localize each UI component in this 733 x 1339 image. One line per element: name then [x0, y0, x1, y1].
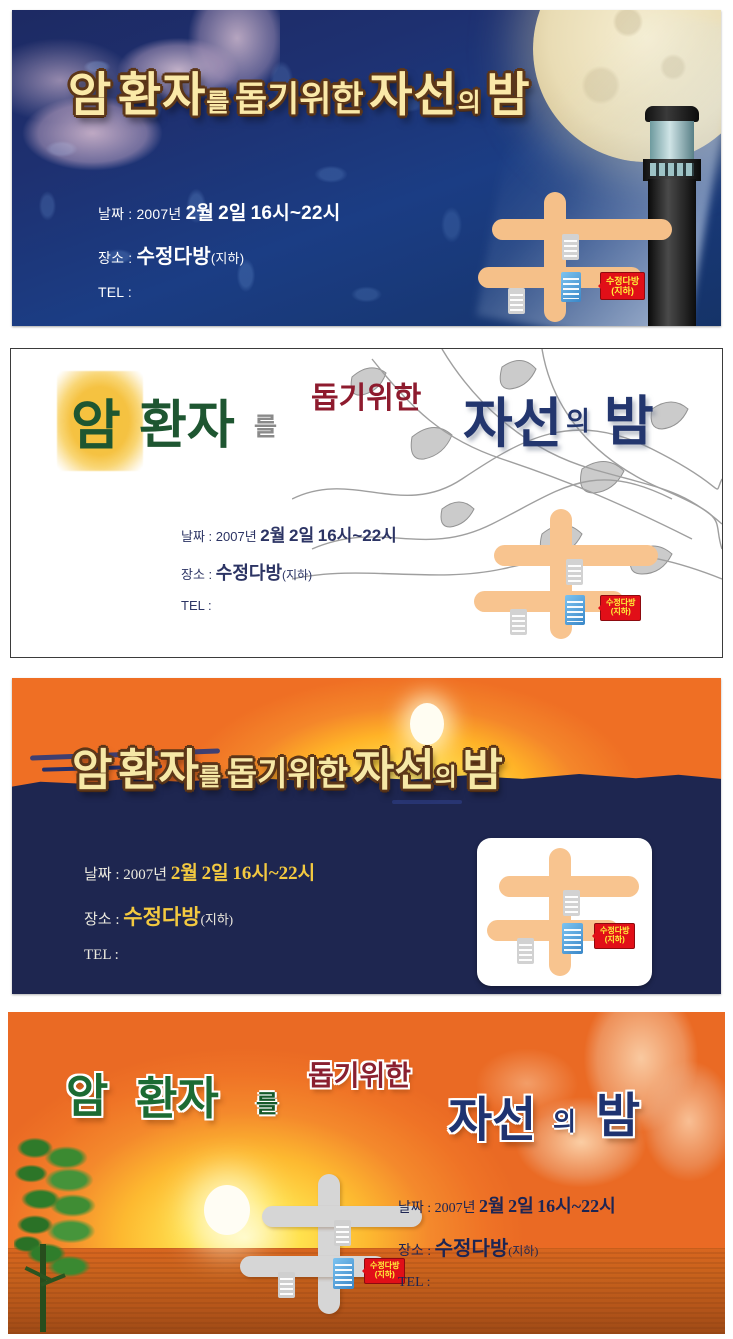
info-row-tel: TEL : [181, 598, 397, 613]
title-part-jaseon: 자선 [354, 745, 435, 796]
map-building-upper [562, 234, 579, 260]
map-building-windows [280, 1278, 293, 1295]
map-building-lower-left [278, 1272, 295, 1298]
banner-white-leaves: 암 환자 를 돕기위한 자선 의 밤 날짜 : 2007년 2월 2일 16시~… [10, 348, 723, 658]
place-label: 장소 : [398, 1244, 431, 1259]
map-building-windows [335, 1264, 352, 1286]
title-part-bam: 밤 [462, 745, 502, 796]
tel-label: TEL : [181, 598, 212, 613]
map-building-windows [564, 240, 577, 257]
title-part-hwanja: 환자 [118, 68, 206, 123]
title-part-hwanja: 환자 [139, 383, 235, 458]
date-time: 16시~22시 [232, 863, 315, 884]
date-time: 16시~22시 [318, 526, 397, 545]
date-year: 2007년 [216, 529, 257, 544]
tel-label: TEL : [398, 1275, 431, 1290]
date-month: 2월 [186, 203, 214, 224]
callout-line-2: (지하) [370, 1271, 399, 1280]
title-part-dopgiwihan: 돕기위한 [308, 1054, 411, 1094]
date-day: 2일 [218, 203, 246, 224]
location-map-sunset: 수정다방 (지하) [487, 848, 642, 976]
map-building-lower-left [508, 288, 525, 314]
title-part-jaseon: 자선 [463, 379, 562, 458]
title-part-ui: 의 [435, 763, 457, 791]
title-part-am: 암 [66, 1060, 108, 1126]
map-building-windows [519, 944, 532, 961]
title-part-am: 암 [72, 745, 112, 796]
place-sub: (지하) [508, 1244, 538, 1258]
banner-night-moon-lighthouse: 암 환자를 돕기위한 자선의 밤 날짜 : 2007년 2월 2일 16시~22… [12, 10, 721, 326]
place-name: 수정다방 [216, 563, 282, 583]
callout-line-2: (지하) [600, 936, 629, 945]
title-part-dopgiwihan: 돕기위한 [235, 80, 364, 120]
map-building-windows [567, 601, 583, 622]
date-time: 16시~22시 [537, 1196, 615, 1216]
map-building-windows [336, 1226, 349, 1243]
info-row-date: 날짜 : 2007년 2월 2일 16시~22시 [398, 1192, 616, 1218]
place-name: 수정다방 [123, 905, 200, 929]
map-road-horizontal-top [492, 219, 672, 240]
map-building-windows [568, 565, 581, 582]
title-part-reul: 를 [206, 88, 229, 117]
title-part-bam: 밤 [604, 377, 654, 456]
map-building-venue-highlight [561, 272, 581, 302]
place-sub: (지하) [211, 251, 244, 266]
date-day: 2일 [508, 1196, 534, 1216]
location-map-night: 수정다방 (지하) [478, 192, 678, 322]
tree-trunk [40, 1244, 46, 1332]
map-venue-callout: 수정다방 (지하) [600, 272, 645, 300]
event-info-white: 날짜 : 2007년 2월 2일 16시~22시 장소 : 수정다방(지하) T… [181, 521, 397, 626]
title-part-dopgiwihan: 돕기위한 [227, 754, 348, 793]
place-label: 장소 : [181, 567, 212, 582]
info-row-place: 장소 : 수정다방(지하) [98, 240, 340, 269]
date-label: 날짜 : [398, 1201, 431, 1216]
title-part-bam: 밤 [486, 68, 530, 123]
map-venue-callout: 수정다방 (지하) [600, 595, 641, 621]
info-row-place: 장소 : 수정다방(지하) [181, 559, 397, 585]
title-part-am: 암 [71, 381, 121, 460]
event-info-sunset: 날짜 : 2007년 2월 2일 16시~22시 장소 : 수정다방(지하) T… [84, 858, 315, 980]
banner-title-white: 암 환자 를 돕기위한 자선 의 밤 [11, 349, 722, 499]
title-part-ui: 의 [566, 401, 590, 438]
place-sub: (지하) [282, 568, 312, 582]
map-building-windows [563, 278, 579, 299]
title-part-dopgiwihan: 돕기위한 [311, 373, 421, 417]
date-month: 2월 [171, 863, 198, 884]
place-name: 수정다방 [435, 1238, 509, 1260]
map-building-lower-left [517, 938, 534, 964]
place-label: 장소 : [98, 250, 132, 266]
map-building-upper [334, 1220, 351, 1246]
date-year: 2007년 [123, 867, 167, 883]
date-year: 2007년 [136, 206, 181, 222]
title-part-reul: 를 [254, 407, 277, 443]
place-label: 장소 : [84, 912, 120, 928]
date-year: 2007년 [435, 1201, 476, 1216]
title-part-ui: 의 [458, 88, 481, 117]
info-row-tel: TEL : [98, 284, 340, 300]
map-building-windows [564, 929, 581, 951]
callout-line-1: 수정다방 [606, 276, 639, 286]
info-row-tel: TEL : [84, 947, 315, 964]
info-row-date: 날짜 : 2007년 2월 2일 16시~22시 [84, 858, 315, 885]
map-building-windows [510, 294, 523, 311]
map-building-windows [565, 896, 578, 913]
callout-line-2: (지하) [606, 608, 635, 617]
title-part-jaseon: 자선 [448, 1080, 536, 1150]
date-month: 2월 [479, 1196, 505, 1216]
banner-title-night: 암 환자를 돕기위한 자선의 밤 [68, 56, 678, 125]
info-row-place: 장소 : 수정다방(지하) [398, 1232, 616, 1261]
lighthouse-lantern-glass [650, 121, 694, 161]
location-map-box-sunset: 수정다방 (지하) [477, 838, 652, 986]
date-time: 16시~22시 [251, 203, 341, 224]
event-info-orange: 날짜 : 2007년 2월 2일 16시~22시 장소 : 수정다방(지하) T… [398, 1192, 616, 1305]
callout-line-2: (지하) [606, 286, 639, 296]
event-info-night: 날짜 : 2007년 2월 2일 16시~22시 장소 : 수정다방(지하) T… [98, 198, 340, 315]
title-part-reul: 를 [256, 1084, 278, 1119]
banner-title-sunset: 암 환자를 돕기위한 자선의 밤 [72, 734, 692, 798]
tel-label: TEL : [84, 947, 119, 963]
title-part-am: 암 [68, 68, 112, 123]
location-map-white: 수정다방 (지하) [466, 509, 656, 639]
map-venue-callout: 수정다방 (지하) [594, 923, 635, 949]
title-part-hwanja: 환자 [118, 745, 199, 796]
title-part-ui: 의 [553, 1102, 576, 1138]
lighthouse-railing [643, 159, 701, 181]
info-row-date: 날짜 : 2007년 2월 2일 16시~22시 [181, 521, 397, 546]
poster-variant-sheet: 암 환자를 돕기위한 자선의 밤 날짜 : 2007년 2월 2일 16시~22… [0, 0, 733, 1339]
banner-orange-tree-hands: 암 환자 를 돕기위한 자선 의 밤 수정 [8, 1012, 725, 1334]
info-row-tel: TEL : [398, 1275, 616, 1291]
place-sub: (지하) [201, 912, 234, 927]
map-building-venue-highlight [562, 923, 583, 954]
date-label: 날짜 : [181, 529, 212, 544]
title-part-jaseon: 자선 [369, 68, 457, 123]
title-part-hwanja: 환자 [136, 1062, 219, 1127]
place-name: 수정다방 [136, 246, 210, 268]
map-building-lower-left [510, 609, 527, 635]
tel-label: TEL : [98, 284, 132, 300]
map-building-venue-highlight [565, 595, 585, 625]
title-part-bam: 밤 [596, 1076, 640, 1146]
info-row-place: 장소 : 수정다방(지하) [84, 901, 315, 931]
map-building-venue-highlight [333, 1258, 354, 1289]
date-label: 날짜 : [98, 206, 132, 222]
title-part-reul: 를 [199, 763, 221, 791]
map-building-windows [512, 615, 525, 632]
date-month: 2월 [260, 526, 285, 545]
date-label: 날짜 : [84, 867, 120, 883]
map-building-upper [563, 890, 580, 916]
info-row-date: 날짜 : 2007년 2월 2일 16시~22시 [98, 198, 340, 225]
map-building-upper [566, 559, 583, 585]
date-day: 2일 [202, 863, 229, 884]
brush-accent-stroke-3 [392, 800, 462, 804]
date-day: 2일 [289, 526, 314, 545]
